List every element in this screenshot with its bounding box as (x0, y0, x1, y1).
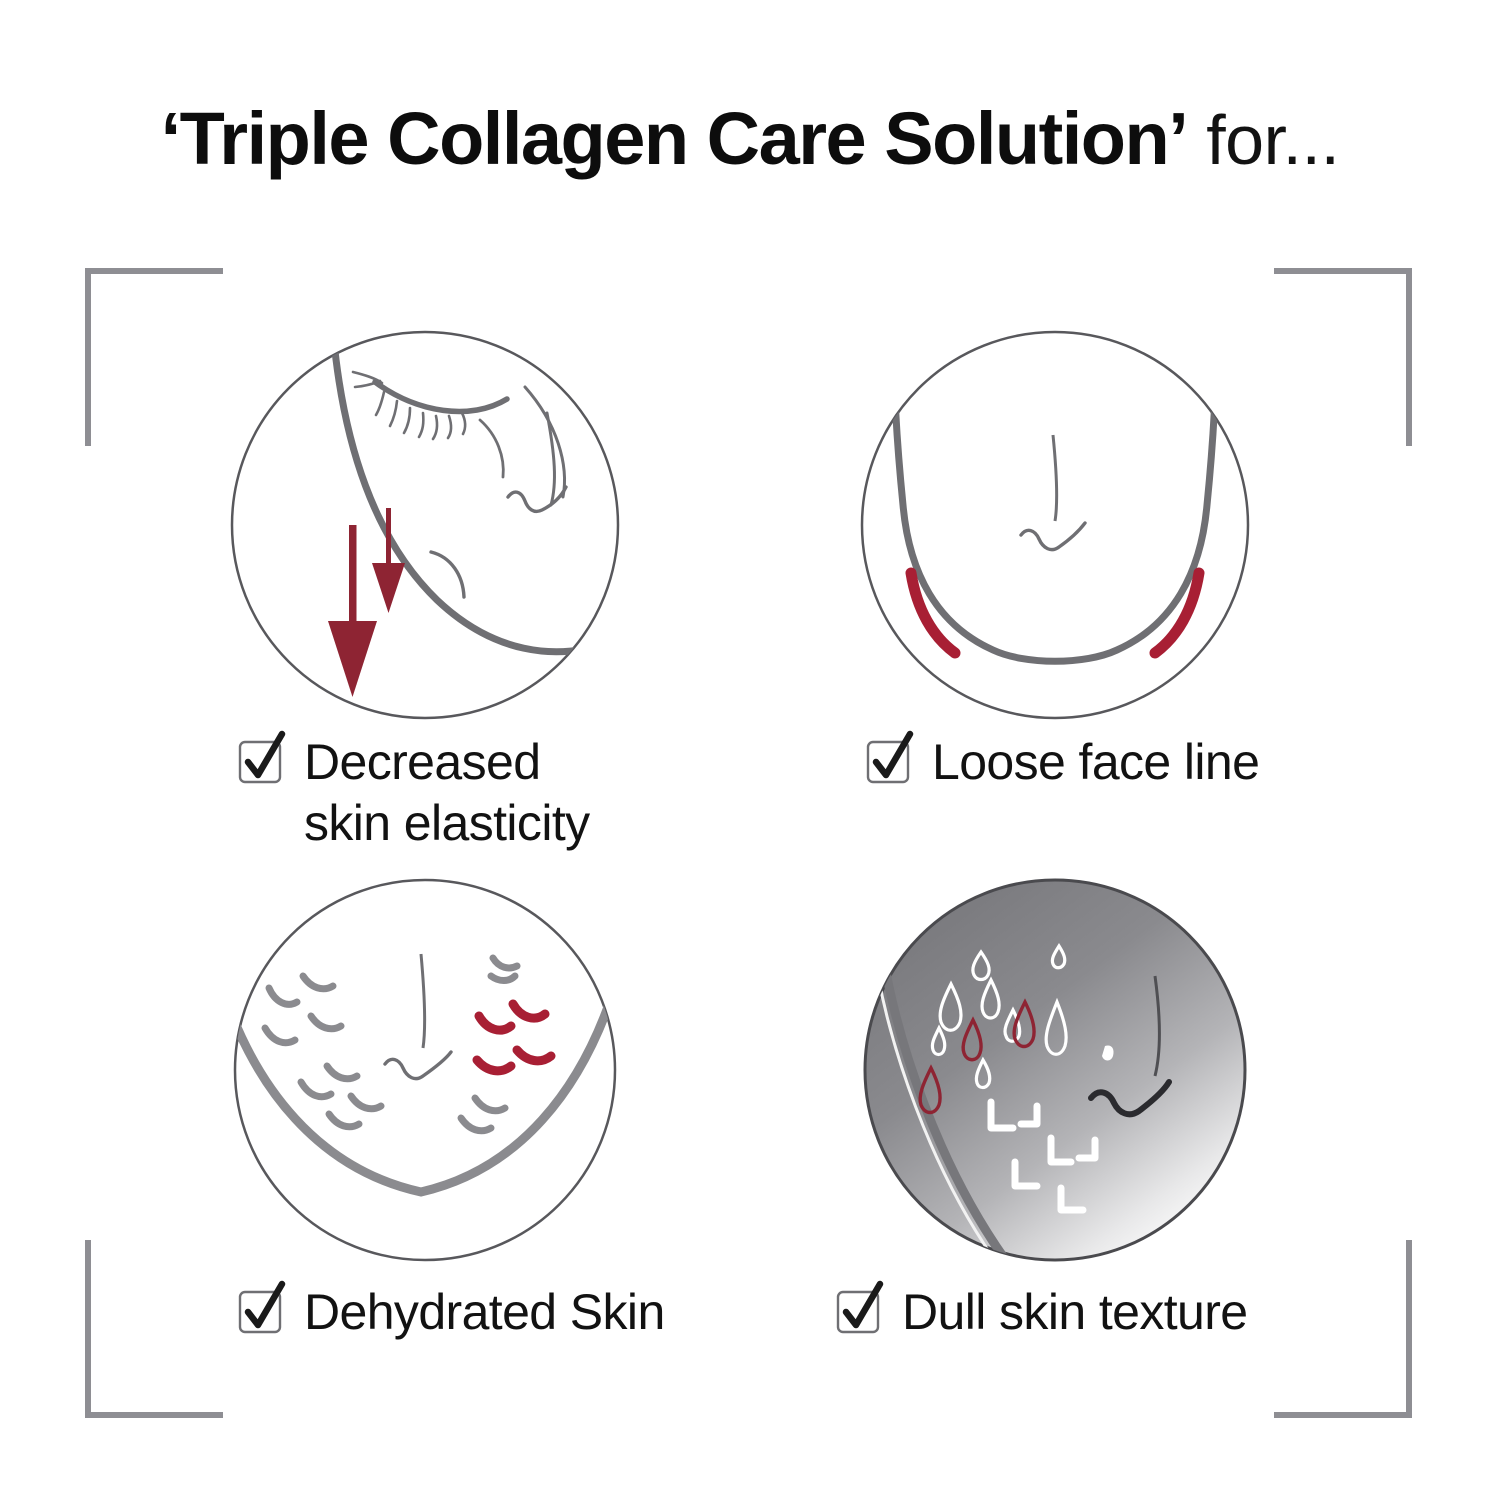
infographic-page: ‘Triple Collagen Care Solution’ for... (0, 0, 1500, 1500)
concern-label: Loose face line (932, 732, 1259, 793)
corner-bracket-bottom-left-icon (85, 1240, 223, 1418)
corner-bracket-top-left-icon (85, 268, 223, 446)
corner-bracket-top-right-icon (1274, 268, 1412, 446)
checked-box-icon[interactable] (866, 740, 910, 784)
face-dull-pores-icon (855, 870, 1255, 1270)
concern-item-loose-face-line[interactable]: Loose face line (866, 732, 1259, 793)
checked-box-icon[interactable] (836, 1290, 880, 1334)
concern-label: Dehydrated Skin (304, 1282, 665, 1343)
checked-box-icon[interactable] (238, 1290, 282, 1334)
face-profile-sagging-arrows-icon (225, 325, 625, 725)
page-title-strong: ‘Triple Collagen Care Solution’ (161, 97, 1188, 180)
page-title-light: for... (1187, 101, 1339, 179)
face-front-loose-jawline-icon (855, 325, 1255, 725)
page-title: ‘Triple Collagen Care Solution’ for... (0, 96, 1500, 181)
concern-illustration-dull-skin-texture (855, 870, 1255, 1270)
concern-illustration-dehydrated-skin (225, 870, 625, 1270)
concern-label: Decreased skin elasticity (304, 732, 590, 854)
concern-item-dull-skin-texture[interactable]: Dull skin texture (836, 1282, 1248, 1343)
concern-item-dehydrated-skin[interactable]: Dehydrated Skin (238, 1282, 665, 1343)
corner-bracket-bottom-right-icon (1274, 1240, 1412, 1418)
face-dry-cracks-icon (225, 870, 625, 1270)
concern-item-decreased-skin-elasticity[interactable]: Decreased skin elasticity (238, 732, 590, 854)
concern-label: Dull skin texture (902, 1282, 1248, 1343)
concern-illustration-loose-face-line (855, 325, 1255, 725)
checked-box-icon[interactable] (238, 740, 282, 784)
concern-illustration-decreased-skin-elasticity (225, 325, 625, 725)
